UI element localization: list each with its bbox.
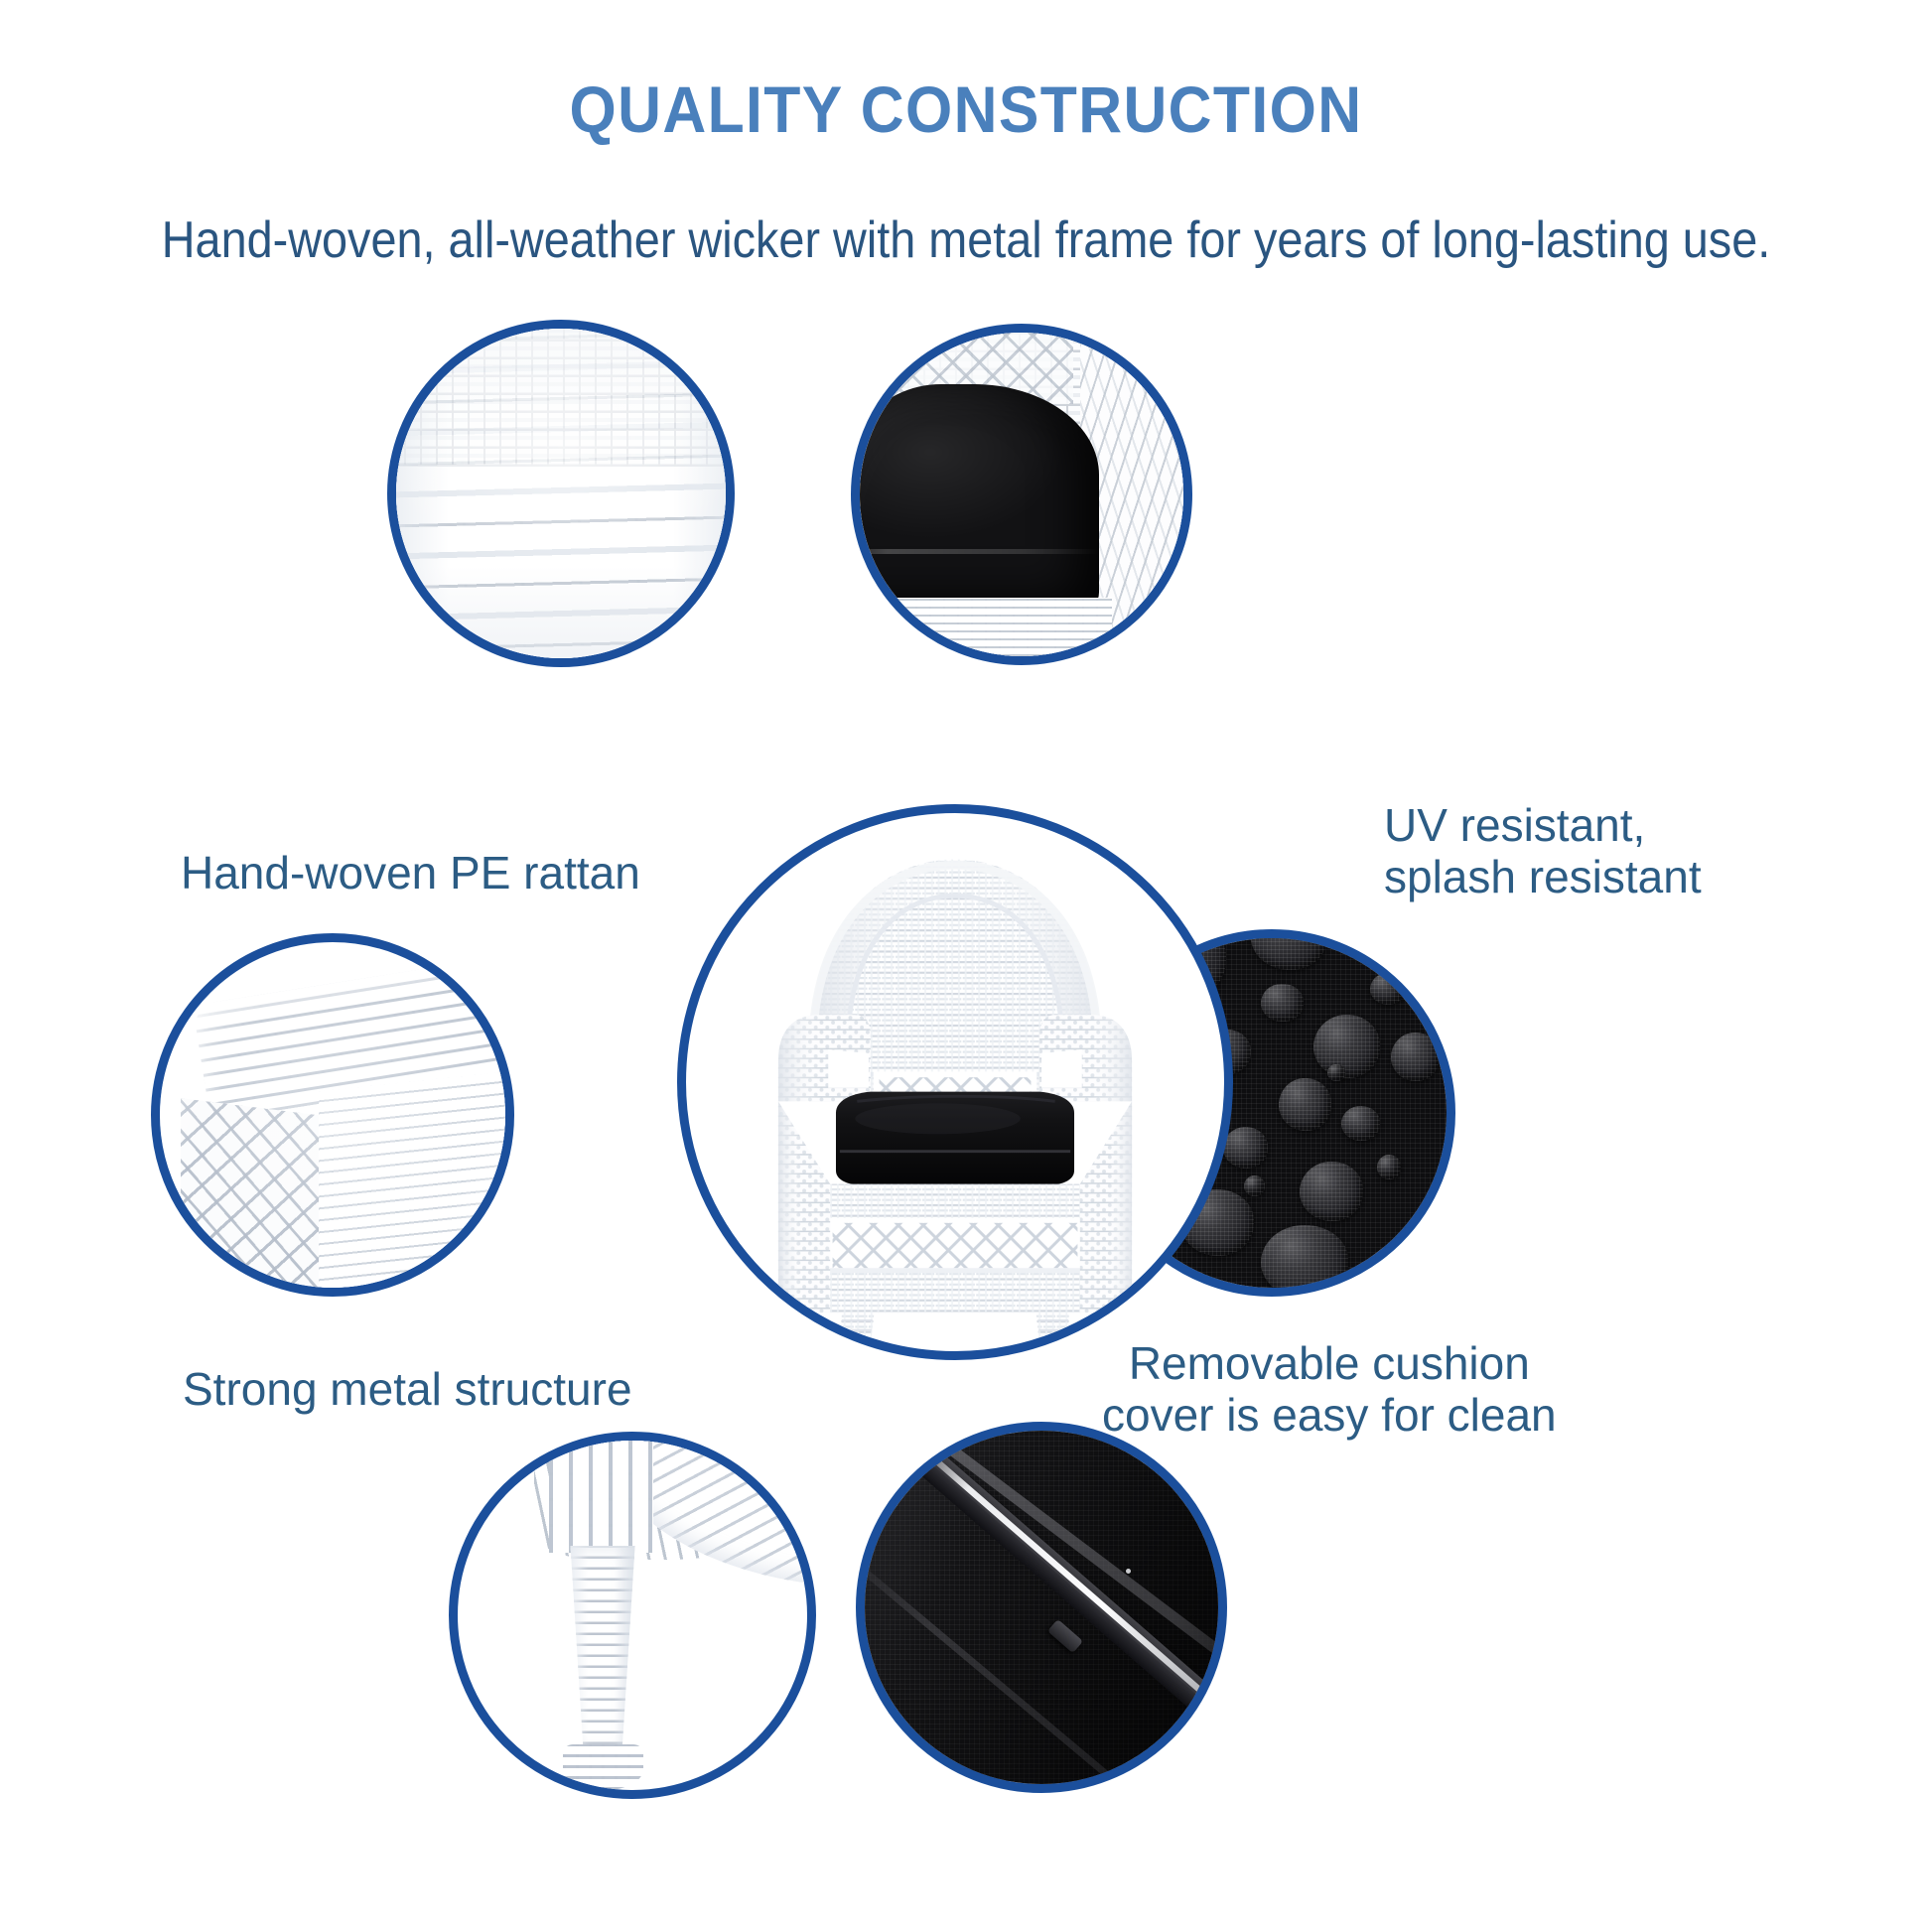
water-droplet <box>1261 984 1303 1023</box>
callout-circle-chair-leg-detail <box>449 1432 816 1799</box>
caption-uv-splash-resistant: UV resistant, splash resistant <box>1384 800 1702 902</box>
chair-leg-photo <box>458 1441 807 1790</box>
water-droplet <box>1327 1064 1345 1082</box>
caption-hand-woven-pe-rattan: Hand-woven PE rattan <box>181 848 640 899</box>
water-droplet <box>1300 1162 1362 1221</box>
water-droplet <box>1223 1127 1269 1169</box>
callout-circle-strong-metal-structure <box>151 933 514 1297</box>
wicker-armchair-illustration <box>686 813 1224 1351</box>
chair-arm-corner-photo <box>160 942 505 1288</box>
water-droplet <box>1244 1175 1265 1196</box>
product-chair-photo <box>686 813 1224 1351</box>
water-droplet <box>1341 1106 1380 1141</box>
water-droplet <box>1261 1225 1348 1288</box>
callout-circle-hand-woven-pe-rattan <box>387 320 735 667</box>
water-droplet <box>1313 1015 1380 1077</box>
chair-front-right-leg <box>1035 1311 1070 1351</box>
chair-front-left-leg <box>840 1311 875 1351</box>
caption-removable-cushion-cover: Removable cushion cover is easy for clea… <box>1102 1338 1557 1441</box>
water-droplet <box>1377 1155 1402 1179</box>
water-droplet <box>1279 1078 1331 1131</box>
infographic-page: QUALITY CONSTRUCTION Hand-woven, all-wea… <box>0 0 1932 1932</box>
page-subtitle: Hand-woven, all-weather wicker with meta… <box>96 210 1835 270</box>
callout-circle-uv-splash-resistant <box>851 324 1192 665</box>
cushion-zipper-photo <box>865 1431 1218 1784</box>
caption-strong-metal-structure: Strong metal structure <box>183 1364 632 1416</box>
water-droplet <box>1391 1033 1440 1081</box>
callout-circle-cushion-zipper-detail <box>856 1422 1227 1793</box>
cushion-in-frame-photo <box>860 333 1183 656</box>
center-circle-product-chair <box>677 804 1233 1360</box>
page-title: QUALITY CONSTRUCTION <box>77 71 1855 147</box>
caption-line-2: splash resistant <box>1384 852 1702 903</box>
rattan-weave-photo <box>396 329 726 658</box>
water-droplet <box>1370 973 1405 1005</box>
caption-line-1: UV resistant, <box>1384 800 1702 852</box>
